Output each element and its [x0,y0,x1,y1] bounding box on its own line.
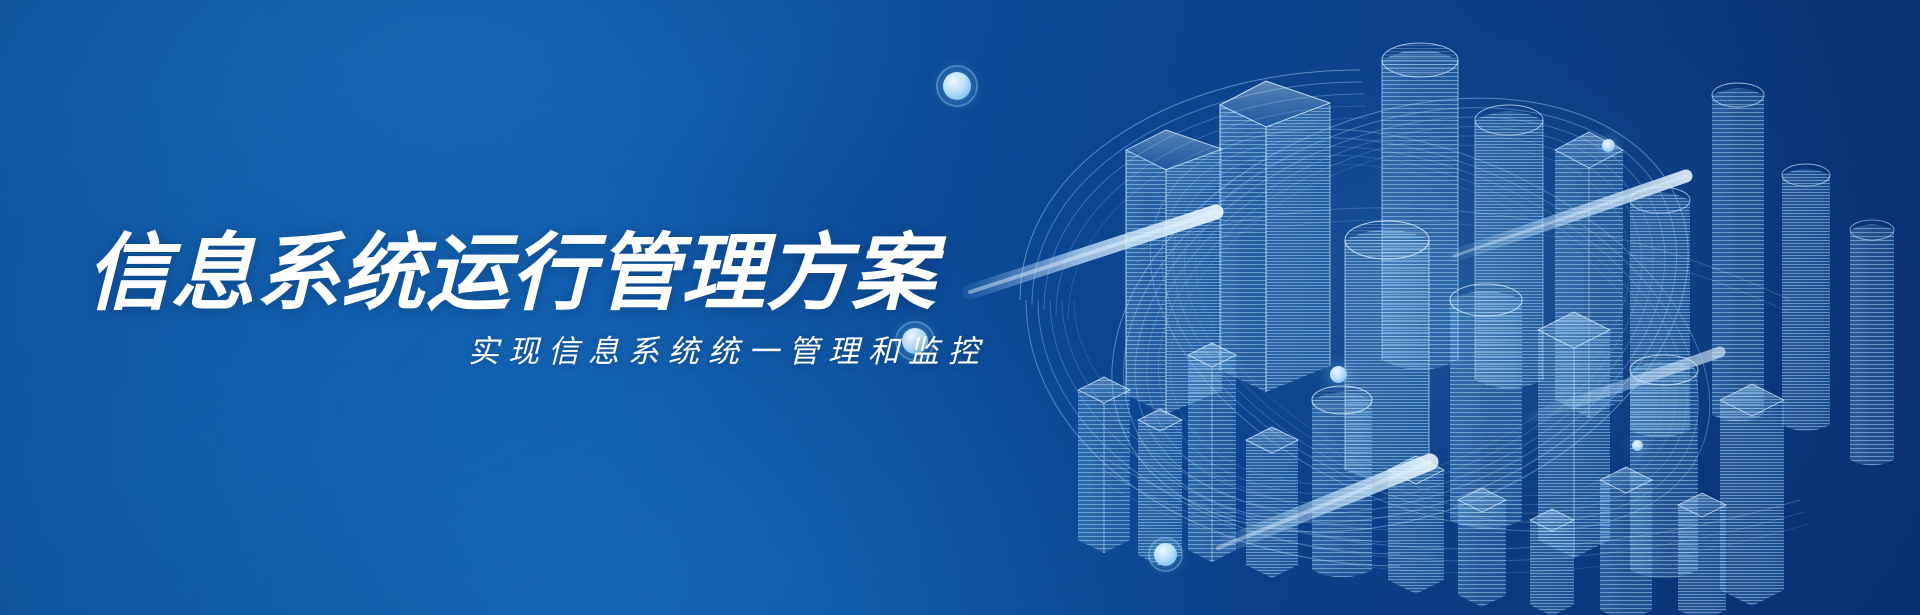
tower-front-cyl-e [1312,386,1372,578]
tower-stepped-second [1126,130,1222,414]
tower-front-f [1388,456,1444,594]
tower-slim-back-d [1712,83,1764,422]
light-streak-lower [1218,462,1430,548]
tower-slim-back-e [1782,164,1830,431]
glow-dot-core [1602,139,1615,152]
glow-dot-ring [1148,537,1183,572]
glow-dot-lower-right [1330,366,1347,383]
glow-dot-bottom [1154,543,1177,566]
tower-cyl-mid-d [1630,355,1698,579]
tower-front-a [1078,377,1130,553]
tower-cyl-back-c [1630,187,1690,438]
orbital-rings [1047,17,1772,613]
wireframe-city-illustration [930,0,1920,615]
tower-stepped-main [1220,81,1330,392]
tower-front-j [1678,493,1726,615]
tower-front-c [1188,343,1236,562]
tower-front-b [1138,409,1182,566]
city-mid-row [1126,81,1784,606]
banner-title: 信息系统运行管理方案 [86,231,936,315]
light-streak-mid-right [1530,352,1720,418]
glow-dot-core [1330,366,1347,383]
light-streaks [970,176,1720,548]
glow-dot-core [1632,440,1643,451]
tower-cyl-far-right [1382,43,1458,370]
tower-cyl-back-a [1475,105,1543,389]
banner-subtitle: 实现信息系统统一管理和监控 [468,336,988,367]
tower-cyl-mid-a [1345,221,1429,481]
tower-front-d [1246,427,1298,578]
banner-text-block: 信息系统运行管理方案 实现信息系统统一管理和监控 [0,0,1000,615]
glow-dot-upper-right [1602,139,1615,152]
tower-block-back-b [1555,132,1623,418]
light-streak-upper [970,212,1216,292]
glow-dot-core [1154,543,1177,566]
tower-block-mid-c [1538,312,1610,558]
orbital-rings-front [1020,70,1808,573]
tower-front-g [1458,488,1506,607]
glow-dot-far-right [1632,440,1643,451]
tower-cyl-mid-b [1450,284,1522,529]
city-back-row [1382,43,1894,466]
tower-edge-right [1850,220,1894,466]
banner-root: 信息系统运行管理方案 实现信息系统统一管理和监控 [0,0,1920,615]
city-front-row [1078,343,1726,615]
tower-front-h [1530,509,1574,615]
tower-front-i [1600,467,1652,615]
light-streak-right [1454,176,1686,256]
tower-block-mid-e [1720,384,1784,606]
